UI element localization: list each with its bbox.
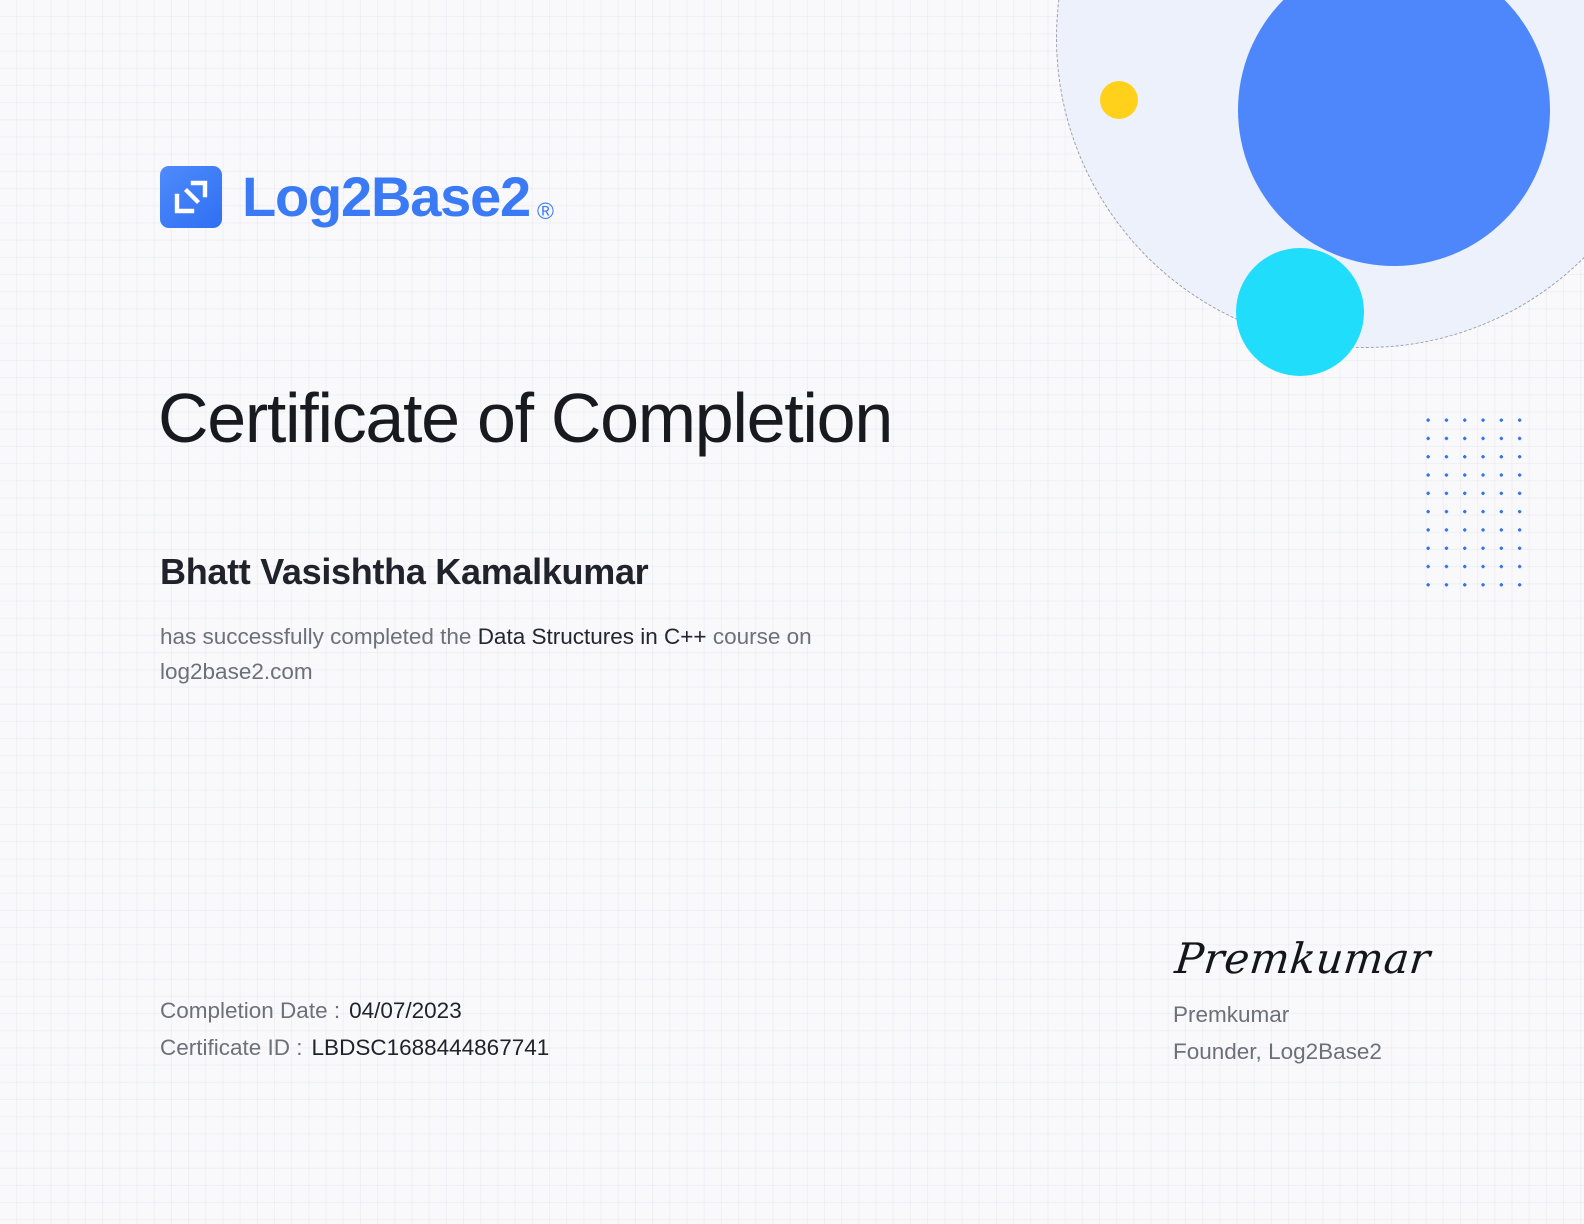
course-name: Data Structures in C++ (478, 624, 707, 649)
brand-logo[interactable]: Log2Base2 ® (160, 166, 554, 228)
registered-trademark-icon: ® (537, 200, 554, 228)
decorative-shapes-group (1064, 0, 1584, 640)
recipient-name: Bhatt Vasishtha Kamalkumar (160, 550, 648, 593)
completion-statement-prefix: has successfully completed the (160, 624, 471, 649)
dashed-arc-circle (1056, 0, 1584, 348)
signature-block: Premkumar Premkumar Founder, Log2Base2 (1173, 938, 1473, 1070)
certificate-meta: Completion Date :04/07/2023 Certificate … (160, 993, 549, 1066)
yellow-dot-shape (1100, 81, 1138, 119)
completion-date-row: Completion Date :04/07/2023 (160, 993, 549, 1030)
expand-arrows-icon (160, 166, 222, 228)
certificate-id-label: Certificate ID : (160, 1035, 303, 1060)
cyan-circle-shape (1236, 248, 1364, 376)
page-title: Certificate of Completion (158, 380, 892, 457)
brand-wordmark: Log2Base2 (242, 169, 530, 225)
certificate-canvas: Log2Base2 ® Certificate of Completion Bh… (0, 0, 1584, 1224)
pale-disc-shape (1056, 0, 1584, 348)
completion-date-label: Completion Date : (160, 998, 340, 1023)
certificate-id-value: LBDSC1688444867741 (312, 1035, 550, 1060)
blue-dot-matrix (1419, 411, 1531, 597)
signer-role: Founder, Log2Base2 (1173, 1034, 1473, 1071)
handwritten-signature: Premkumar (1173, 938, 1477, 980)
blue-circle-shape (1238, 0, 1550, 266)
completion-statement: has successfully completed the Data Stru… (160, 620, 840, 690)
completion-date-value: 04/07/2023 (349, 998, 462, 1023)
signer-name: Premkumar (1173, 997, 1473, 1034)
certificate-id-row: Certificate ID :LBDSC1688444867741 (160, 1030, 549, 1067)
